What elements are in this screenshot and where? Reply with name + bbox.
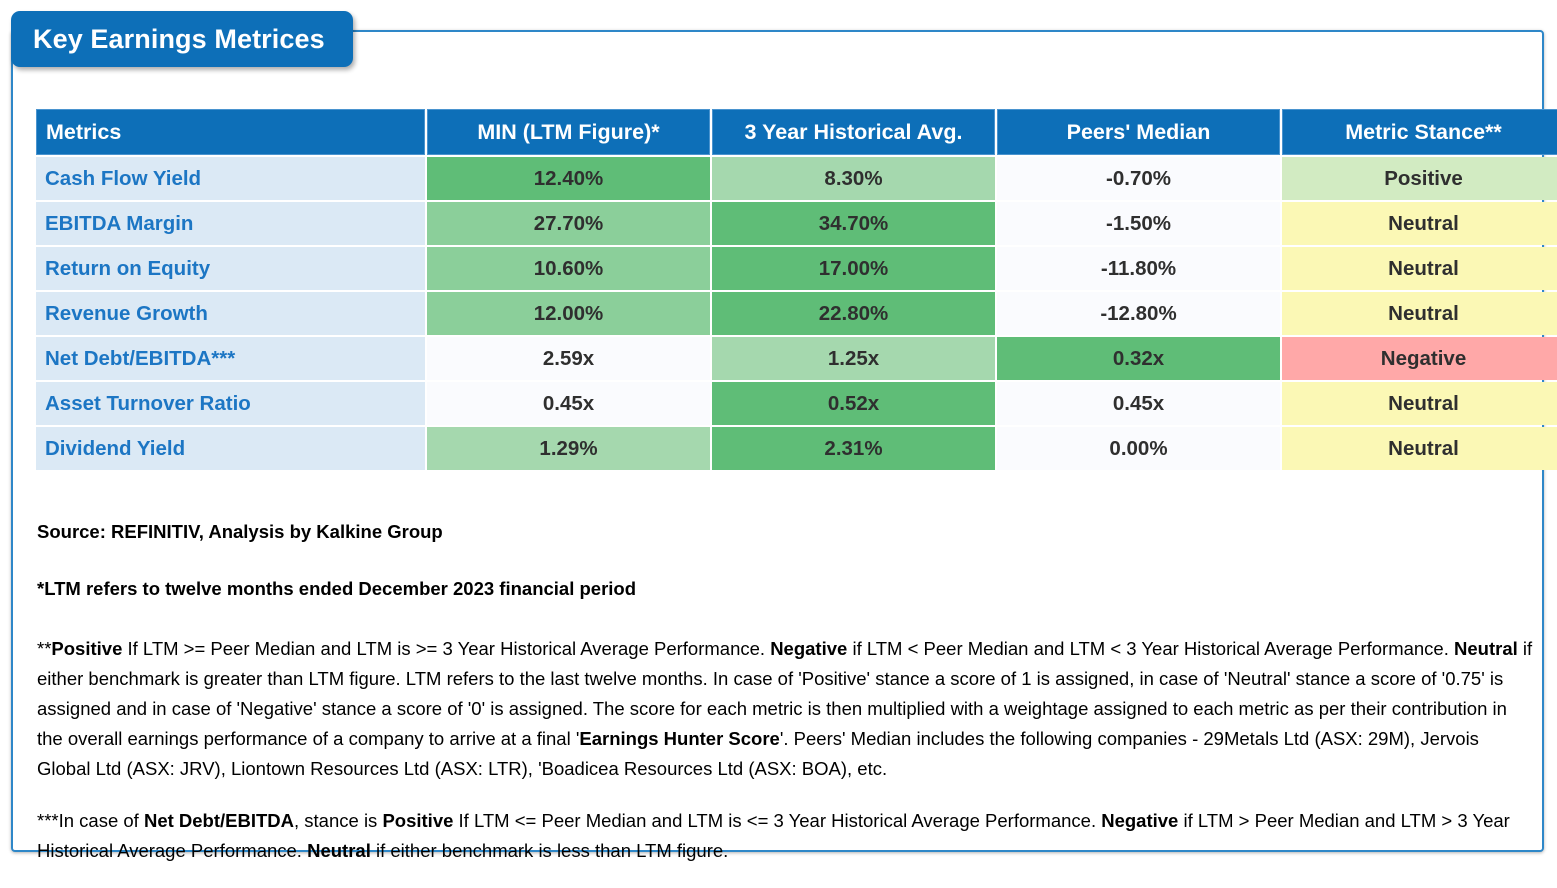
metric-name-cell: Cash Flow Yield (36, 157, 425, 200)
ltm-value-cell: 1.29% (427, 427, 710, 470)
avg-value-cell: 22.80% (712, 292, 995, 335)
column-header-peers-median: Peers' Median (997, 109, 1280, 155)
metric-name-cell: Net Debt/EBITDA*** (36, 337, 425, 380)
metric-stance-cell: Neutral (1282, 292, 1557, 335)
source-note: Source: REFINITIV, Analysis by Kalkine G… (37, 520, 1537, 545)
note-text: if either benchmark is less than LTM fig… (371, 840, 728, 861)
emphasis-text: Positive (51, 638, 122, 659)
key-earnings-metrics-table: Metrics MIN (LTM Figure)* 3 Year Histori… (34, 107, 1557, 472)
column-header-metrics: Metrics (36, 109, 425, 155)
emphasis-text: Neutral (307, 840, 371, 861)
ltm-value-cell: 10.60% (427, 247, 710, 290)
emphasis-text: Net Debt/EBITDA (144, 810, 294, 831)
page-title: Key Earnings Metrices (33, 24, 325, 55)
ltm-definition-note: *LTM refers to twelve months ended Decem… (37, 577, 1537, 602)
note-text: if LTM < Peer Median and LTM < 3 Year Hi… (847, 638, 1454, 659)
net-debt-ebitda-methodology-note: ***In case of Net Debt/EBITDA, stance is… (37, 806, 1537, 866)
peers-median-cell: 0.32x (997, 337, 1280, 380)
table-row: Return on Equity10.60%17.00%-11.80%Neutr… (36, 247, 1557, 290)
note-text: , stance is (294, 810, 382, 831)
avg-value-cell: 8.30% (712, 157, 995, 200)
table-row: Dividend Yield1.29%2.31%0.00%Neutral (36, 427, 1557, 470)
table-row: EBITDA Margin27.70%34.70%-1.50%Neutral (36, 202, 1557, 245)
metric-name-cell: Revenue Growth (36, 292, 425, 335)
peers-median-cell: 0.00% (997, 427, 1280, 470)
footnotes: Source: REFINITIV, Analysis by Kalkine G… (37, 520, 1537, 888)
ltm-value-cell: 12.00% (427, 292, 710, 335)
table-row: Cash Flow Yield12.40%8.30%-0.70%Positive (36, 157, 1557, 200)
table-header-row: Metrics MIN (LTM Figure)* 3 Year Histori… (36, 109, 1557, 155)
avg-value-cell: 1.25x (712, 337, 995, 380)
ltm-value-cell: 0.45x (427, 382, 710, 425)
content-card: Metrics MIN (LTM Figure)* 3 Year Histori… (11, 30, 1544, 852)
peers-median-cell: -11.80% (997, 247, 1280, 290)
column-header-metric-stance: Metric Stance** (1282, 109, 1557, 155)
table-row: Asset Turnover Ratio0.45x0.52x0.45xNeutr… (36, 382, 1557, 425)
table-body: Cash Flow Yield12.40%8.30%-0.70%Positive… (36, 157, 1557, 470)
column-header-ltm: MIN (LTM Figure)* (427, 109, 710, 155)
emphasis-text: Negative (770, 638, 847, 659)
emphasis-text: Negative (1101, 810, 1178, 831)
metric-stance-cell: Positive (1282, 157, 1557, 200)
emphasis-text: Positive (382, 810, 453, 831)
table-header: Metrics MIN (LTM Figure)* 3 Year Histori… (36, 109, 1557, 155)
avg-value-cell: 0.52x (712, 382, 995, 425)
avg-value-cell: 34.70% (712, 202, 995, 245)
peers-median-cell: 0.45x (997, 382, 1280, 425)
emphasis-text: Neutral (1454, 638, 1518, 659)
peers-median-cell: -1.50% (997, 202, 1280, 245)
metric-name-cell: Return on Equity (36, 247, 425, 290)
note-text: If LTM >= Peer Median and LTM is >= 3 Ye… (122, 638, 770, 659)
metric-name-cell: Dividend Yield (36, 427, 425, 470)
metric-stance-cell: Negative (1282, 337, 1557, 380)
metric-stance-cell: Neutral (1282, 202, 1557, 245)
note-text: ** (37, 638, 51, 659)
table-row: Revenue Growth12.00%22.80%-12.80%Neutral (36, 292, 1557, 335)
metric-stance-cell: Neutral (1282, 427, 1557, 470)
metric-stance-cell: Neutral (1282, 382, 1557, 425)
emphasis-text: Earnings Hunter Score (579, 728, 779, 749)
peers-median-cell: -12.80% (997, 292, 1280, 335)
note-text: ***In case of (37, 810, 144, 831)
peers-median-cell: -0.70% (997, 157, 1280, 200)
table-row: Net Debt/EBITDA***2.59x1.25x0.32xNegativ… (36, 337, 1557, 380)
metric-stance-cell: Neutral (1282, 247, 1557, 290)
column-header-3y-avg: 3 Year Historical Avg. (712, 109, 995, 155)
panel-title-tab: Key Earnings Metrices (11, 11, 353, 67)
note-text: If LTM <= Peer Median and LTM is <= 3 Ye… (453, 810, 1101, 831)
metric-name-cell: Asset Turnover Ratio (36, 382, 425, 425)
ltm-value-cell: 27.70% (427, 202, 710, 245)
avg-value-cell: 2.31% (712, 427, 995, 470)
ltm-value-cell: 12.40% (427, 157, 710, 200)
ltm-value-cell: 2.59x (427, 337, 710, 380)
metric-stance-methodology-note: **Positive If LTM >= Peer Median and LTM… (37, 634, 1537, 784)
metric-name-cell: EBITDA Margin (36, 202, 425, 245)
avg-value-cell: 17.00% (712, 247, 995, 290)
